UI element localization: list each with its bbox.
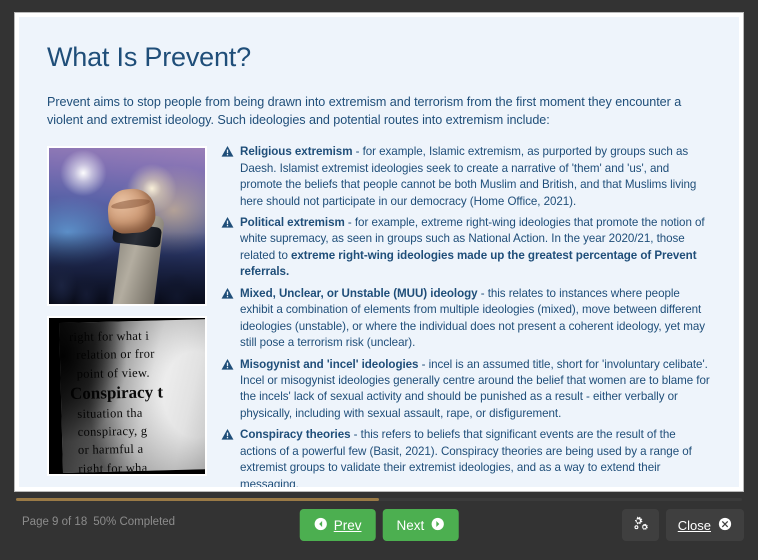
close-button-label: Close xyxy=(678,518,711,533)
footer-status: Page 9 of 1850% Completed xyxy=(22,516,175,528)
page-title: What Is Prevent? xyxy=(47,41,711,73)
list-item-term: Religious extremism xyxy=(240,145,352,158)
slide-body: right for what i relation or fror point … xyxy=(47,143,711,487)
bullet-list: Religious extremism - for example, Islam… xyxy=(221,143,711,487)
arrow-circle-right-icon xyxy=(430,517,444,534)
intro-paragraph: Prevent aims to stop people from being d… xyxy=(47,94,711,129)
player-footer: Page 9 of 1850% Completed Prev Next xyxy=(0,502,758,560)
fist-shape xyxy=(107,187,157,234)
list-item-text: Political extremism - for example, extre… xyxy=(240,215,711,281)
list-item-body-emphasis: extreme right-wing ideologies made up th… xyxy=(240,249,697,278)
raised-fist-illustration xyxy=(49,148,205,304)
list-item-term: Misogynist and 'incel' ideologies xyxy=(240,358,418,371)
next-button[interactable]: Next xyxy=(383,509,459,541)
footer-right-controls: Close xyxy=(622,509,744,541)
warning-triangle-icon xyxy=(221,145,234,161)
dictionary-illustration: right for what i relation or fror point … xyxy=(49,318,205,474)
warning-triangle-icon xyxy=(221,216,234,232)
list-item-text: Misogynist and 'incel' ideologies - ince… xyxy=(240,357,711,423)
warning-triangle-icon xyxy=(221,358,234,374)
warning-triangle-icon xyxy=(221,428,234,444)
slide-card: What Is Prevent? Prevent aims to stop pe… xyxy=(14,12,744,492)
list-item: Mixed, Unclear, or Unstable (MUU) ideolo… xyxy=(221,286,711,352)
warning-triangle-icon xyxy=(221,287,234,303)
close-circle-icon xyxy=(718,517,732,534)
list-item-text: Religious extremism - for example, Islam… xyxy=(240,144,711,210)
elearning-player: What Is Prevent? Prevent aims to stop pe… xyxy=(0,0,758,560)
progress-bar-track xyxy=(16,498,742,501)
list-item-term: Mixed, Unclear, or Unstable (MUU) ideolo… xyxy=(240,287,478,300)
prev-button-label: Prev xyxy=(334,518,362,533)
list-item-text: Conspiracy theories - this refers to bel… xyxy=(240,427,711,487)
list-item-term: Conspiracy theories xyxy=(240,428,351,441)
arrow-circle-left-icon xyxy=(314,517,328,534)
image-conspiracy-dictionary: right for what i relation or fror point … xyxy=(47,316,207,476)
media-column: right for what i relation or fror point … xyxy=(47,143,207,476)
list-item: Political extremism - for example, extre… xyxy=(221,215,711,281)
list-item: Religious extremism - for example, Islam… xyxy=(221,144,711,210)
list-item-text: Mixed, Unclear, or Unstable (MUU) ideolo… xyxy=(240,286,711,352)
page-vignette xyxy=(60,319,207,473)
completion-percent: 50% Completed xyxy=(93,516,175,528)
settings-button[interactable] xyxy=(622,509,659,541)
progress-bar-fill xyxy=(16,498,379,501)
image-raised-fist xyxy=(47,146,207,306)
prev-button[interactable]: Prev xyxy=(300,509,376,541)
next-button-label: Next xyxy=(397,518,425,533)
list-item-term: Political extremism xyxy=(240,216,345,229)
list-item: Misogynist and 'incel' ideologies - ince… xyxy=(221,357,711,423)
dictionary-page: right for what i relation or fror point … xyxy=(60,319,207,473)
cogs-icon xyxy=(632,516,649,535)
close-button[interactable]: Close xyxy=(666,509,744,541)
page-counter: Page 9 of 18 xyxy=(22,516,87,528)
slide-content: What Is Prevent? Prevent aims to stop pe… xyxy=(19,17,739,487)
navigation-buttons: Prev Next xyxy=(300,509,459,541)
list-item: Conspiracy theories - this refers to bel… xyxy=(221,427,711,487)
